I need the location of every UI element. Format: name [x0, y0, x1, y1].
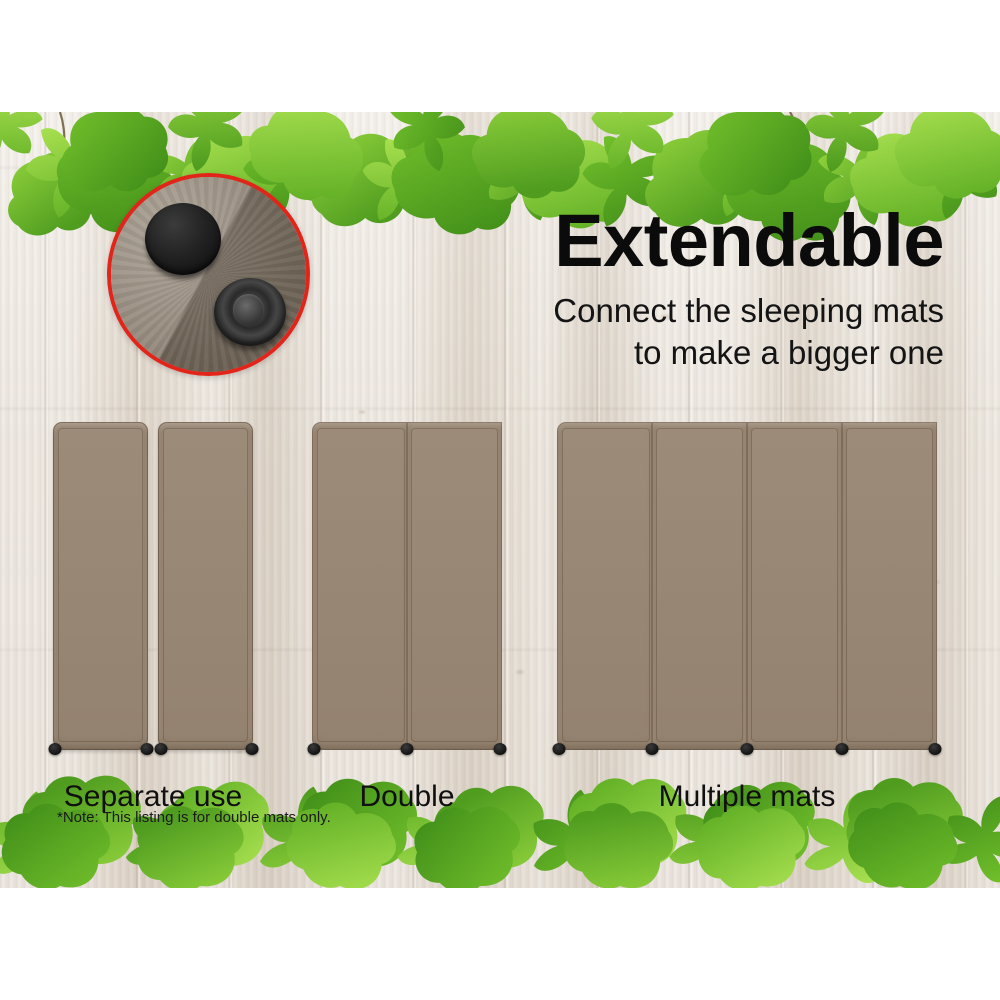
- snap-dot: [155, 743, 168, 755]
- snap-dot: [494, 743, 507, 755]
- snap-dot-row: [53, 743, 253, 755]
- photo-plate: Extendable Connect the sleeping mats to …: [0, 112, 1000, 888]
- mat: [158, 422, 253, 750]
- mat: [557, 422, 652, 750]
- mat: [652, 422, 747, 750]
- snap-dot: [836, 743, 849, 755]
- product-infographic: Extendable Connect the sleeping mats to …: [0, 0, 1000, 1000]
- mat: [747, 422, 842, 750]
- snap-dot: [401, 743, 414, 755]
- mat-group-separate: Separate use: [53, 422, 253, 750]
- snap-dot: [49, 743, 62, 755]
- mat-group-multiple: Multiple mats: [557, 422, 937, 750]
- snap-dot: [646, 743, 659, 755]
- snap-dot: [929, 743, 942, 755]
- disclaimer-note: *Note: This listing is for double mats o…: [57, 809, 331, 826]
- mat-row: [53, 422, 253, 750]
- mat: [842, 422, 937, 750]
- mat-group-double: Double: [312, 422, 502, 750]
- mat-group-caption: Double: [359, 780, 454, 814]
- mat: [407, 422, 502, 750]
- snap-dot: [246, 743, 259, 755]
- snap-dot: [553, 743, 566, 755]
- snap-dot-row: [557, 743, 937, 755]
- mat-group-caption: Multiple mats: [659, 780, 836, 814]
- mat: [53, 422, 148, 750]
- mat: [312, 422, 407, 750]
- snap-dot: [741, 743, 754, 755]
- snap-dot-row: [312, 743, 502, 755]
- mat-row: [557, 422, 937, 750]
- snap-dot: [141, 743, 154, 755]
- mat-groups: Separate use Double: [0, 112, 1000, 888]
- mat-row: [312, 422, 502, 750]
- snap-dot: [308, 743, 321, 755]
